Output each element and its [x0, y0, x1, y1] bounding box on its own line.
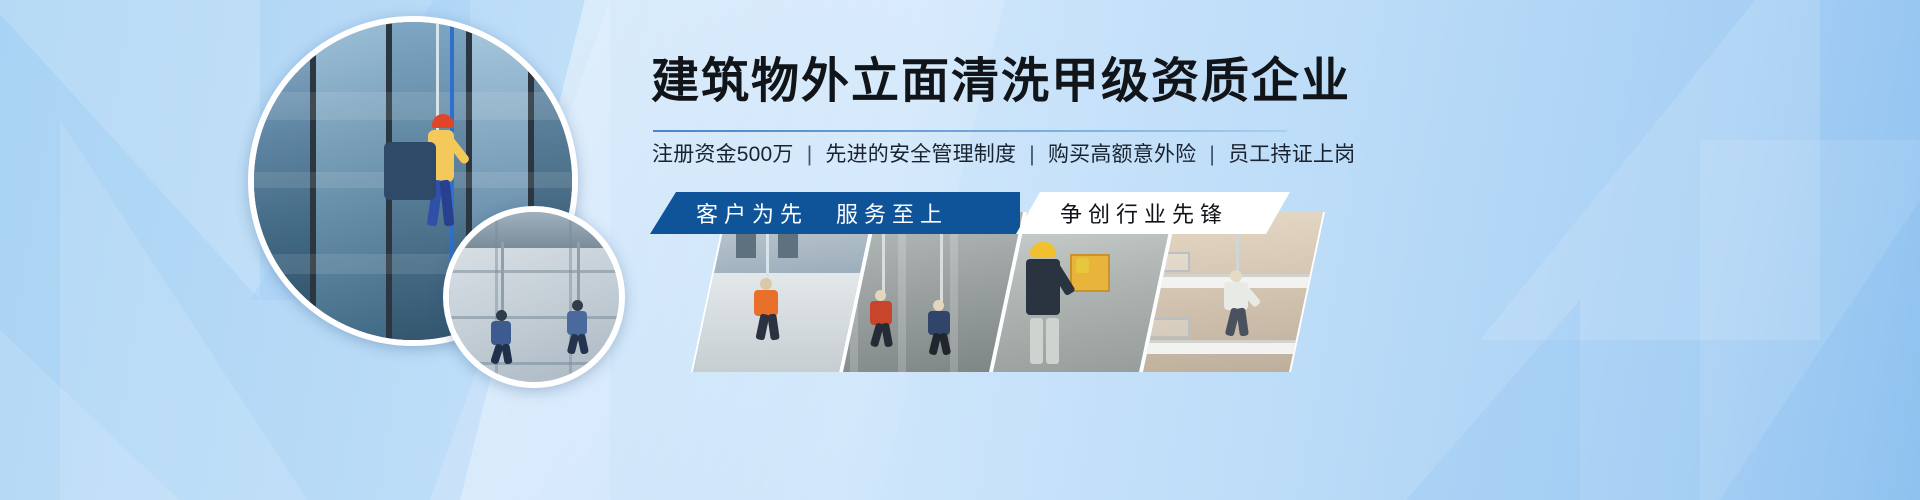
worker-figure-right: [567, 300, 587, 335]
subtitle-item-4: 员工持证上岗: [1228, 143, 1355, 166]
facade-photo: [449, 212, 619, 382]
banner-subtitle: 注册资金500万 | 先进的安全管理制度 | 购买高额意外险 | 员工持证上岗: [652, 140, 1355, 170]
slogan-bar-dark: 客户为先 服务至上: [650, 192, 1020, 234]
slogan-text-light-bar: 争创行业先锋: [1060, 197, 1228, 229]
subtitle-separator-3: |: [1202, 143, 1222, 166]
bg-triangle-8: [0, 330, 190, 500]
headline-divider: [653, 130, 1287, 132]
circle-photo-abseiling-workers: [443, 206, 625, 388]
worker-figure-left: [491, 310, 511, 345]
subtitle-separator-1: |: [800, 143, 820, 166]
slogan-strip: 客户为先 服务至上 争创行业先锋: [650, 192, 1290, 234]
bg-triangle-5: [1700, 140, 1920, 500]
slogan-bar-light: 争创行业先锋: [1016, 192, 1290, 234]
subtitle-item-2: 先进的安全管理制度: [825, 143, 1016, 166]
promo-banner: 建筑物外立面清洗甲级资质企业 注册资金500万 | 先进的安全管理制度 | 购买…: [0, 0, 1920, 500]
subtitle-separator-2: |: [1022, 143, 1042, 166]
photo-panel-strip: [650, 212, 1290, 372]
slogan-text-dark-bar: 客户为先 服务至上: [696, 197, 948, 229]
bg-triangle-6: [1380, 300, 1580, 500]
subtitle-item-1: 注册资金500万: [652, 143, 794, 166]
banner-headline: 建筑物外立面清洗甲级资质企业: [651, 52, 1351, 112]
equipment-bag: [384, 142, 436, 200]
subtitle-item-3: 购买高额意外险: [1048, 143, 1196, 166]
